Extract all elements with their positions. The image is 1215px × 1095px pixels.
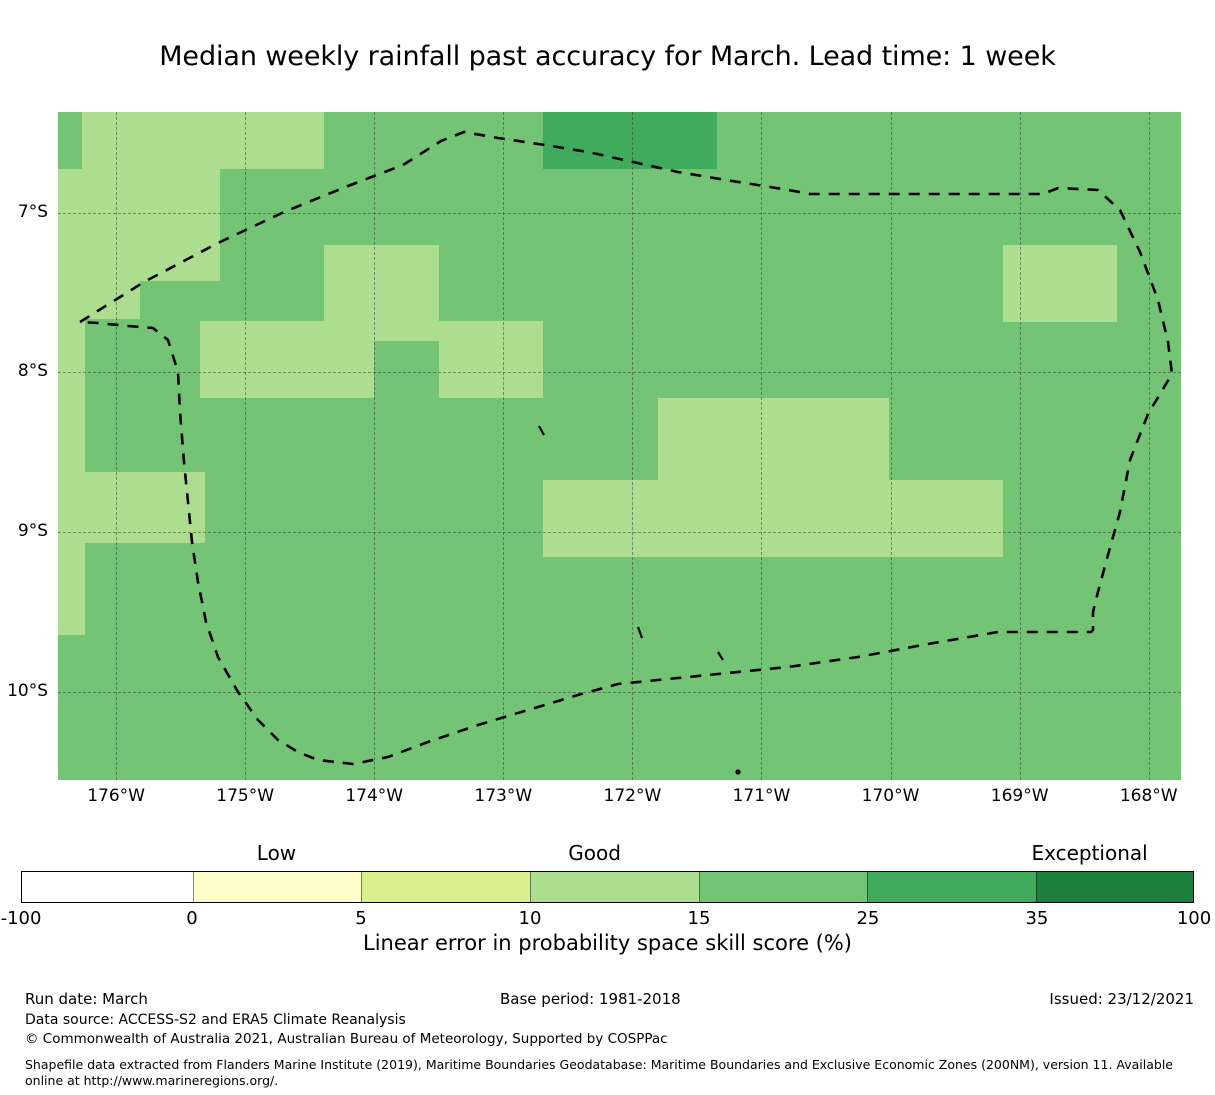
x-axis-tick-label: 174°W bbox=[345, 786, 403, 806]
x-axis-tick-label: 171°W bbox=[733, 786, 791, 806]
colorbar-tick-label: 5 bbox=[355, 908, 366, 929]
y-axis-tick-text: 8°S bbox=[18, 361, 48, 381]
x-axis-tick-label: 170°W bbox=[862, 786, 920, 806]
x-axis-tick-label: 172°W bbox=[604, 786, 662, 806]
page-title: Median weekly rainfall past accuracy for… bbox=[0, 41, 1215, 72]
footer-base-period: Base period: 1981-2018 bbox=[500, 990, 681, 1008]
footer-run-date: Run date: March bbox=[25, 990, 148, 1008]
colorbar: -1000510152535100 LowGoodExceptional bbox=[21, 871, 1194, 903]
colorbar-category-label: Exceptional bbox=[1031, 841, 1147, 865]
y-axis-tick-text: 7°S bbox=[18, 202, 48, 222]
x-axis-tick-label: 175°W bbox=[216, 786, 274, 806]
colorbar-gradient-bar bbox=[21, 871, 1194, 903]
colorbar-segment bbox=[361, 872, 530, 902]
x-axis-tick-label: 169°W bbox=[991, 786, 1049, 806]
colorbar-tick-label: 15 bbox=[688, 908, 711, 929]
footer-shapefile-attribution: Shapefile data extracted from Flanders M… bbox=[25, 1057, 1200, 1089]
colorbar-segment bbox=[530, 872, 699, 902]
x-axis-tick-label: 176°W bbox=[87, 786, 145, 806]
island-mark-4 bbox=[736, 770, 740, 774]
island-mark-3 bbox=[718, 652, 723, 660]
y-axis-tick-text: 10°S bbox=[7, 681, 48, 701]
colorbar-tick-label: 0 bbox=[186, 908, 197, 929]
y-axis-tick-text: 9°S bbox=[18, 521, 48, 541]
colorbar-category-label: Low bbox=[257, 841, 296, 865]
colorbar-segment bbox=[193, 872, 362, 902]
island-mark-2 bbox=[638, 627, 642, 638]
footer-issued-date: Issued: 23/12/2021 bbox=[1049, 990, 1194, 1008]
colorbar-category-label: Good bbox=[568, 841, 621, 865]
footer-copyright: © Commonwealth of Australia 2021, Austra… bbox=[25, 1031, 668, 1047]
eez-boundary-line bbox=[80, 132, 1172, 764]
colorbar-tick-label: 10 bbox=[519, 908, 542, 929]
footer-meta-row: Run date: March Base period: 1981-2018 I… bbox=[0, 990, 1215, 1010]
colorbar-tick-label: 25 bbox=[856, 908, 879, 929]
colorbar-segment bbox=[1036, 872, 1193, 902]
colorbar-tick-label: 35 bbox=[1025, 908, 1048, 929]
eez-boundary-overlay bbox=[58, 112, 1181, 780]
colorbar-tick-label: -100 bbox=[1, 908, 42, 929]
colorbar-axis-title: Linear error in probability space skill … bbox=[0, 931, 1215, 955]
island-mark-1 bbox=[539, 426, 544, 435]
footer-data-source: Data source: ACCESS-S2 and ERA5 Climate … bbox=[25, 1012, 406, 1028]
map-plot-area bbox=[58, 112, 1181, 780]
x-axis-tick-label: 173°W bbox=[474, 786, 532, 806]
colorbar-tick-label: 100 bbox=[1177, 908, 1211, 929]
colorbar-segment bbox=[22, 872, 193, 902]
colorbar-segment bbox=[867, 872, 1036, 902]
x-axis-tick-label: 168°W bbox=[1120, 786, 1178, 806]
colorbar-segment bbox=[699, 872, 868, 902]
